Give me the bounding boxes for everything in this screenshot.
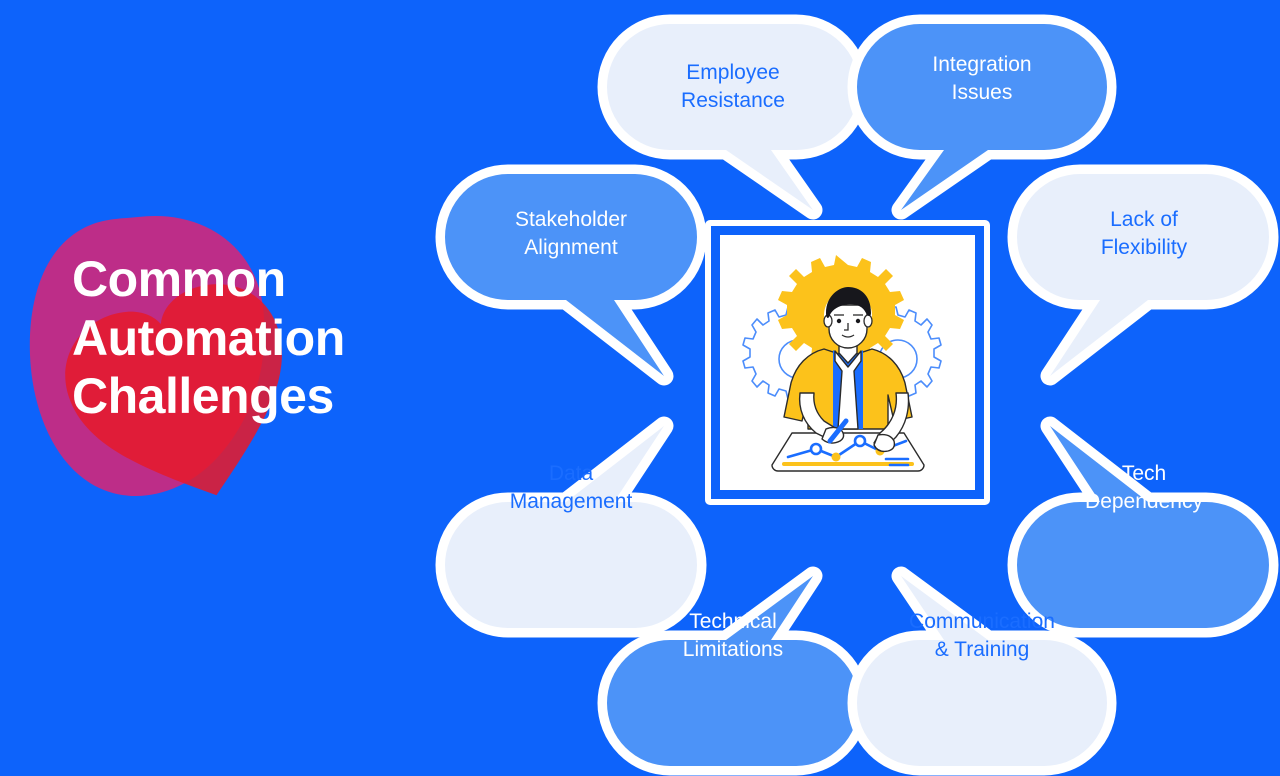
bubble-shape <box>608 566 858 776</box>
bubble-tech-dependency[interactable]: TechDependency <box>1020 418 1268 558</box>
bubble-employee-resistance[interactable]: EmployeeResistance <box>608 14 858 160</box>
bubble-label: StakeholderAlignment <box>499 206 643 261</box>
ear-right <box>864 315 872 327</box>
bubble-lack-of-flexibility[interactable]: Lack ofFlexibility <box>1020 164 1268 304</box>
chart-node-2 <box>855 436 865 446</box>
bubble-fill-path <box>607 576 859 766</box>
bubble-label: TechnicalLimitations <box>667 608 799 663</box>
bubble-data-management[interactable]: DataManagement <box>446 418 696 558</box>
chart-node-1 <box>811 444 821 454</box>
infographic-canvas: Common Automation Challenges EmployeeRes… <box>0 0 1280 720</box>
center-illustration-inner <box>711 226 984 499</box>
bubble-label: TechDependency <box>1069 460 1219 515</box>
bubble-fill-path <box>445 174 697 376</box>
title-line-2: Automation <box>72 309 492 368</box>
title-line-3: Challenges <box>72 367 492 426</box>
title-line-1: Common <box>72 250 492 309</box>
bubble-label: IntegrationIssues <box>916 51 1047 106</box>
center-illustration-frame <box>705 220 990 505</box>
bubble-label: DataManagement <box>494 460 649 515</box>
eye-left <box>836 318 840 322</box>
chart-dot-1 <box>831 452 840 461</box>
bubble-integration-issues[interactable]: IntegrationIssues <box>858 14 1106 144</box>
bubble-shape <box>858 566 1106 776</box>
bubble-technical-limitations[interactable]: TechnicalLimitations <box>608 566 858 706</box>
bubble-communication-training[interactable]: Communication& Training <box>858 566 1106 706</box>
bubble-fill-path <box>1017 174 1269 376</box>
bubble-shape <box>1020 164 1268 384</box>
bubble-stakeholder-alignment[interactable]: StakeholderAlignment <box>446 164 696 304</box>
bubble-label: EmployeeResistance <box>665 59 801 114</box>
bubble-label: Lack ofFlexibility <box>1085 206 1203 261</box>
bubble-shape <box>446 164 696 384</box>
engineer-with-gears-illustration <box>728 243 968 483</box>
bubble-label: Communication& Training <box>893 608 1071 663</box>
hand-right-shape <box>874 434 894 451</box>
page-title: Common Automation Challenges <box>72 250 492 426</box>
eye-right <box>855 318 859 322</box>
bubble-fill-path <box>857 576 1107 766</box>
